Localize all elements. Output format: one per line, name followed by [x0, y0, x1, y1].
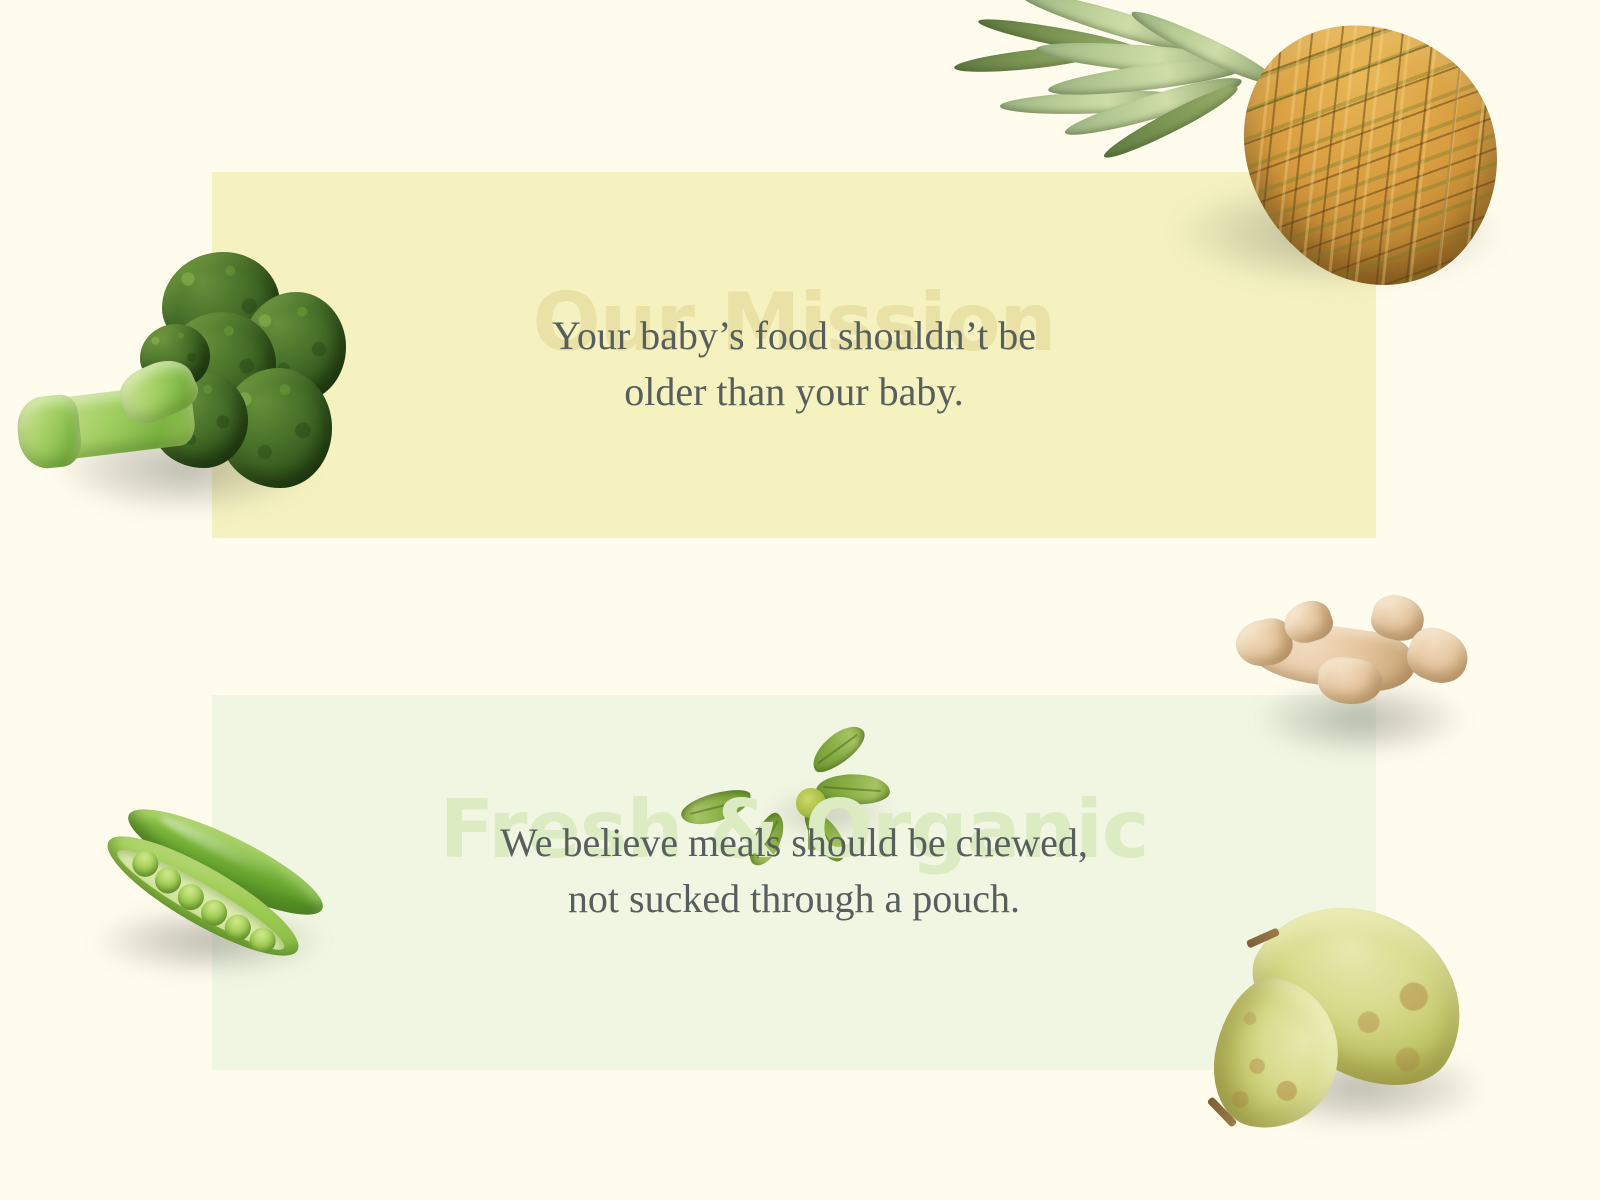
ginger-image [1232, 586, 1480, 746]
basil-image [712, 742, 890, 850]
pineapple-image [944, 0, 1524, 302]
page-canvas: Our Mission Your baby’s food shouldn’t b… [0, 0, 1600, 1200]
basil-bud [796, 788, 826, 818]
pears-image [1196, 896, 1496, 1126]
broccoli-image [14, 246, 344, 516]
broccoli-stalk-base [14, 393, 83, 471]
peas-image [78, 820, 348, 980]
